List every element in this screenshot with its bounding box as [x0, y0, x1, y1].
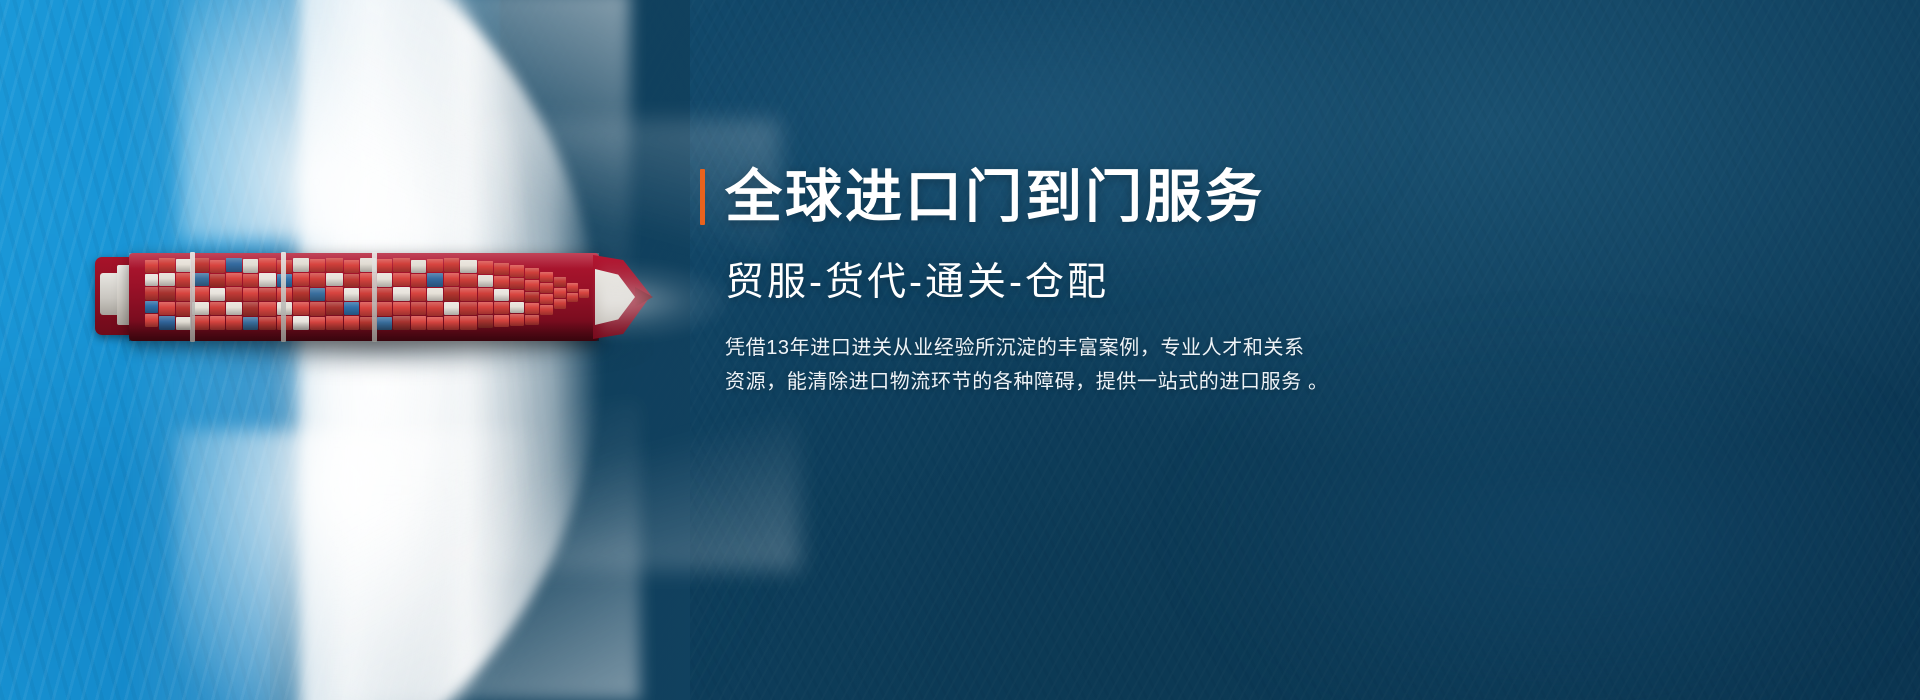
shipping-container — [494, 276, 509, 288]
shipping-container — [176, 288, 191, 301]
shipping-container — [326, 287, 343, 301]
shipping-container — [510, 278, 524, 289]
banner-description-line: 资源，能清除进口物流环节的各种障碍，提供一站式的进口服务 。 — [725, 365, 1445, 399]
shipping-container — [525, 292, 539, 302]
banner-description-line: 凭借13年进口进关从业经验所沉淀的丰富案例，专业人才和关系 — [725, 331, 1445, 365]
shipping-container — [478, 288, 493, 301]
banner-description: 凭借13年进口进关从业经验所沉淀的丰富案例，专业人才和关系 资源，能清除进口物流… — [725, 331, 1445, 400]
shipping-container — [411, 260, 426, 273]
shipping-container — [293, 287, 309, 301]
shipping-container — [259, 288, 276, 301]
shipping-container — [243, 259, 258, 273]
shipping-container — [478, 275, 493, 287]
shipping-container — [444, 273, 459, 286]
shipping-container — [393, 273, 410, 286]
shipping-container — [176, 273, 191, 287]
shipping-container — [540, 294, 553, 304]
shipping-container — [259, 258, 276, 272]
shipping-container — [226, 258, 242, 272]
shipping-container — [377, 259, 392, 272]
ship-gantry-crane — [281, 252, 286, 342]
shipping-container — [243, 288, 258, 301]
ship-gantry-crane — [190, 252, 195, 342]
shipping-container — [326, 273, 343, 286]
shipping-container — [344, 288, 359, 301]
shipping-container — [393, 258, 410, 272]
shipping-container — [393, 302, 410, 315]
shipping-container — [510, 302, 524, 313]
shipping-container — [377, 288, 392, 301]
shipping-container — [427, 273, 443, 287]
shipping-container — [427, 302, 443, 316]
shipping-container — [478, 302, 493, 314]
shipping-container — [540, 272, 553, 282]
shipping-container — [344, 260, 359, 273]
ship-hull-shadow — [129, 321, 599, 341]
shipping-container — [210, 288, 225, 301]
shipping-container — [554, 299, 566, 309]
shipping-container — [226, 273, 242, 286]
shipping-container — [210, 302, 225, 315]
shipping-container — [460, 260, 477, 273]
shipping-container — [444, 258, 459, 272]
shipping-container — [159, 273, 175, 286]
shipping-container — [210, 274, 225, 287]
shipping-container — [226, 287, 242, 301]
shipping-container — [159, 287, 175, 301]
shipping-container — [494, 302, 509, 314]
shipping-container — [460, 274, 477, 287]
shipping-container — [310, 273, 325, 287]
shipping-container — [540, 283, 553, 293]
shipping-container — [310, 259, 325, 272]
shipping-container — [310, 302, 325, 316]
shipping-container — [393, 287, 410, 301]
shipping-container — [460, 288, 477, 301]
shipping-container — [579, 289, 589, 298]
banner-title-row: 全球进口门到门服务 — [700, 168, 1460, 226]
shipping-container — [567, 293, 578, 302]
shipping-container — [377, 302, 392, 316]
shipping-container — [145, 274, 158, 286]
shipping-container — [176, 259, 191, 272]
shipping-container — [567, 283, 578, 292]
ship-gantry-crane — [372, 252, 377, 342]
shipping-container — [293, 273, 309, 286]
shipping-container — [259, 302, 276, 316]
shipping-container — [159, 302, 175, 315]
shipping-container — [145, 287, 158, 300]
shipping-container — [210, 260, 225, 273]
shipping-container — [226, 302, 242, 315]
shipping-container — [310, 288, 325, 301]
shipping-container — [377, 273, 392, 287]
shipping-container — [540, 305, 553, 315]
shipping-container — [326, 258, 343, 272]
shipping-container — [444, 302, 459, 315]
shipping-container — [326, 302, 343, 315]
shipping-container — [293, 302, 309, 315]
accent-bar-icon — [700, 169, 705, 225]
shipping-container — [478, 261, 493, 274]
shipping-container — [494, 289, 509, 301]
wake-trail-lower — [420, 400, 800, 570]
shipping-container — [494, 263, 509, 275]
shipping-container — [525, 303, 539, 314]
shipping-container — [411, 288, 426, 301]
shipping-container — [243, 302, 258, 316]
shipping-container — [554, 277, 566, 287]
shipping-container — [344, 302, 359, 315]
shipping-container — [427, 288, 443, 301]
shipping-container — [554, 288, 566, 298]
shipping-container — [159, 258, 175, 272]
container-ship — [95, 243, 655, 351]
shipping-container — [411, 302, 426, 315]
shipping-container — [145, 260, 158, 273]
shipping-container — [176, 302, 191, 316]
shipping-container — [145, 301, 158, 313]
shipping-container — [411, 274, 426, 287]
shipping-container — [460, 302, 477, 315]
shipping-container — [344, 274, 359, 287]
shipping-container — [525, 280, 539, 291]
shipping-container — [427, 259, 443, 272]
shipping-container — [510, 265, 524, 277]
page-title: 全球进口门到门服务 — [725, 168, 1265, 226]
shipping-container — [444, 287, 459, 301]
banner-copy: 全球进口门到门服务 贸服-货代-通关-仓配 凭借13年进口进关从业经验所沉淀的丰… — [700, 168, 1460, 400]
shipping-container — [510, 290, 524, 301]
shipping-container — [525, 268, 539, 279]
banner-subtitle: 贸服-货代-通关-仓配 — [725, 262, 1460, 305]
shipping-container — [293, 258, 309, 272]
hero-banner: 全球进口门到门服务 贸服-货代-通关-仓配 凭借13年进口进关从业经验所沉淀的丰… — [0, 0, 1920, 700]
shipping-container — [243, 274, 258, 287]
shipping-container — [259, 273, 276, 287]
